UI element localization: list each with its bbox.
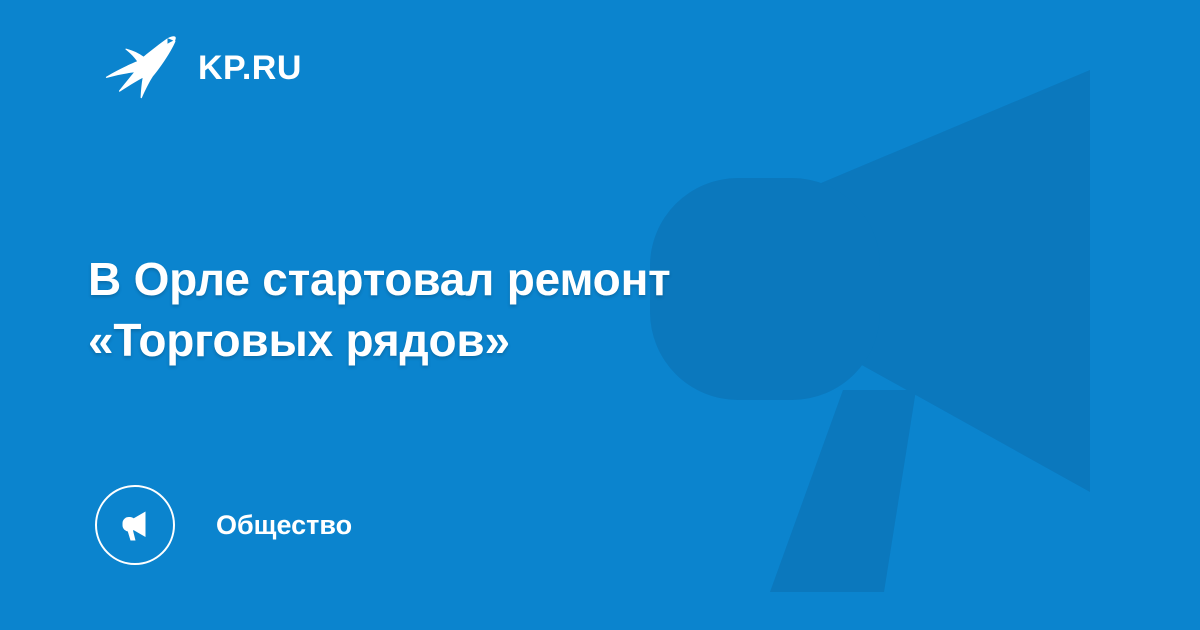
category-tag[interactable]: Общество [95, 484, 352, 566]
brand-header[interactable]: KP.RU [104, 36, 302, 100]
headline: В Орле стартовал ремонт «Торговых рядов» [88, 249, 828, 372]
brand-name: KP.RU [198, 51, 302, 85]
category-label: Общество [216, 512, 352, 539]
category-badge [95, 485, 175, 565]
headline-line-2: «Торговых рядов» [88, 310, 828, 372]
headline-line-1: В Орле стартовал ремонт [88, 249, 828, 311]
megaphone-icon [114, 504, 156, 546]
swallow-bird-icon [104, 36, 176, 100]
social-share-card: KP.RU В Орле стартовал ремонт «Торговых … [0, 0, 1200, 630]
